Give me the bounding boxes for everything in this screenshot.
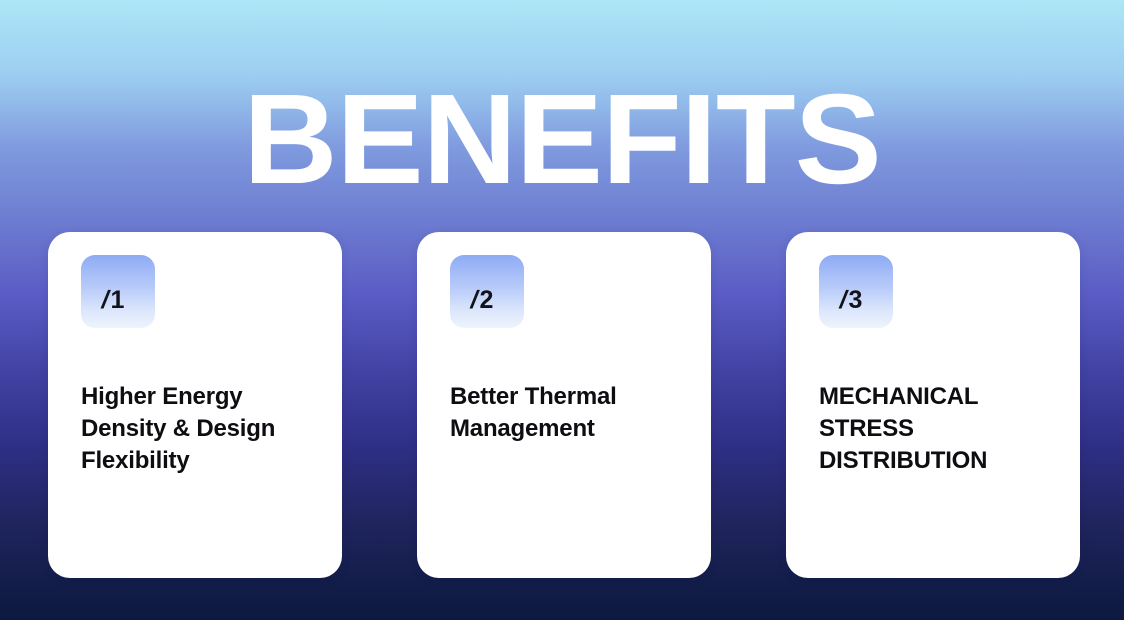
card-number-value: 3 [848, 286, 862, 314]
card-number-badge: /1 [81, 255, 155, 328]
benefit-cards-row: /1 Higher Energy Density & Design Flexib… [48, 232, 1080, 578]
card-number-label: /2 [471, 288, 494, 313]
benefit-card[interactable]: /1 Higher Energy Density & Design Flexib… [48, 232, 342, 578]
card-number-value: 1 [110, 286, 124, 314]
benefits-slide: BENEFITS /1 Higher Energy Density & Desi… [0, 0, 1124, 620]
card-heading: MECHANICAL STRESS DISTRIBUTION [819, 381, 1047, 477]
card-number-badge: /3 [819, 255, 893, 328]
card-heading: Higher Energy Density & Design Flexibili… [81, 381, 309, 477]
card-heading: Better Thermal Management [450, 381, 678, 445]
card-number-label: /3 [840, 288, 863, 313]
benefit-card[interactable]: /3 MECHANICAL STRESS DISTRIBUTION [786, 232, 1080, 578]
card-number-value: 2 [479, 286, 493, 314]
card-number-label: /1 [102, 288, 125, 313]
benefit-card[interactable]: /2 Better Thermal Management [417, 232, 711, 578]
card-number-badge: /2 [450, 255, 524, 328]
page-title: BENEFITS [0, 76, 1124, 204]
